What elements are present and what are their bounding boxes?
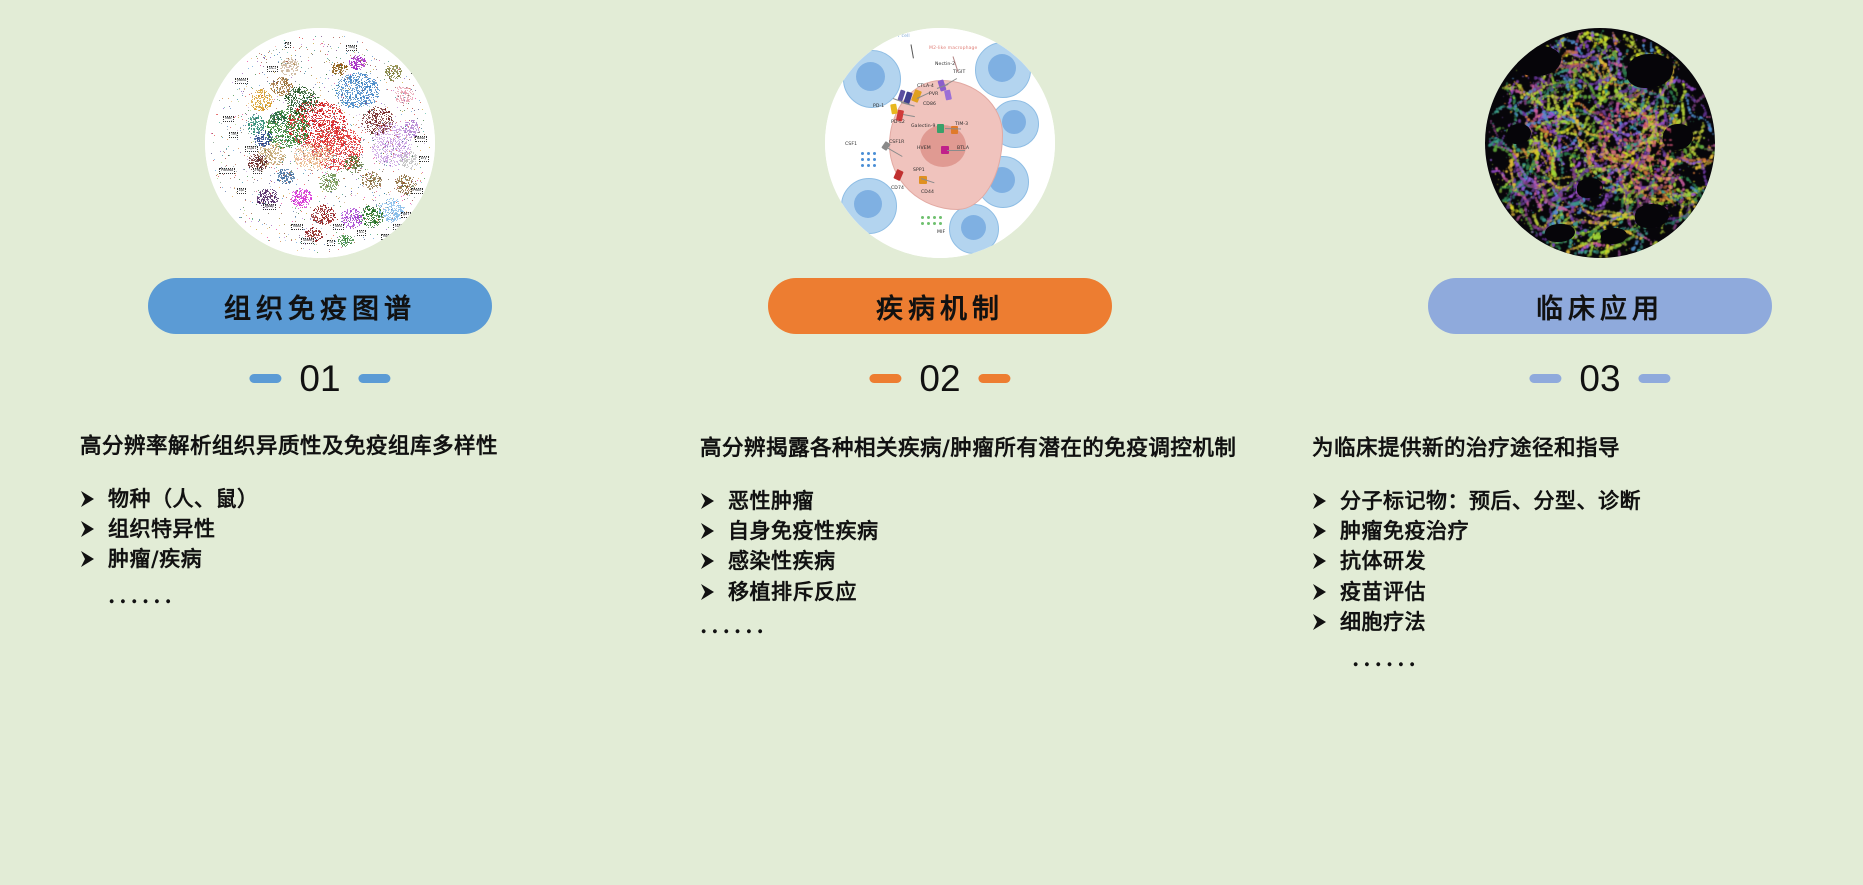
lead-text: 为临床提供新的治疗途径和指导 xyxy=(1312,434,1863,465)
diagram-annotation: M2-like macrophage xyxy=(929,46,977,51)
bullet-list-01: 物种（人、鼠） 组织特异性 肿瘤/疾病 xyxy=(80,484,610,575)
list-item: 分子标记物：预后、分型、诊断 xyxy=(1312,486,1863,516)
diagram-annotation: T cell xyxy=(897,34,910,39)
dash-right-icon xyxy=(1639,374,1671,383)
diagram-annotation: PD-L2 xyxy=(891,120,905,125)
list-item-label: 抗体研发 xyxy=(1340,546,1426,576)
column-03-body: 为临床提供新的治疗途径和指导 分子标记物：预后、分型、诊断 肿瘤免疫治疗 xyxy=(1312,412,1863,671)
list-item: 移植排斥反应 xyxy=(700,577,1245,607)
multiplex-tissue-image xyxy=(1485,28,1715,258)
infographic-board: CD4TTregBNKpDCMonoDC1MacTfhCD8TPlasmaFib… xyxy=(0,0,1863,885)
pill-label-text: 临床应用 xyxy=(1536,287,1664,326)
list-item-label: 自身免疫性疾病 xyxy=(728,516,879,546)
diagram-annotation: MIF xyxy=(937,230,945,235)
arrow-bullet-icon xyxy=(1312,489,1327,509)
media-circle-tissue xyxy=(1485,28,1715,258)
list-item-label: 恶性肿瘤 xyxy=(728,486,814,516)
ellipsis: ...... xyxy=(1352,646,1863,671)
column-02-body: 高分辨揭露各种相关疾病/肿瘤所有潜在的免疫调控机制 恶性肿瘤 自身免疫性疾病 xyxy=(700,412,1245,638)
arrow-bullet-icon xyxy=(80,547,95,567)
ellipsis: ...... xyxy=(108,583,610,608)
list-item: 肿瘤/疾病 xyxy=(80,544,610,574)
list-item-label: 疫苗评估 xyxy=(1340,577,1426,607)
dash-right-icon xyxy=(359,374,391,383)
diagram-annotation: PVR xyxy=(929,92,938,97)
cell-crosstalk-diagram: T cellM2-like macrophageCTLA-4PD-1PD-L2C… xyxy=(825,28,1055,258)
diagram-annotation: CSF1R xyxy=(889,140,904,145)
list-item: 细胞疗法 xyxy=(1312,607,1863,637)
diagram-annotation: SPP1 xyxy=(913,168,925,173)
list-item-label: 肿瘤免疫治疗 xyxy=(1340,516,1469,546)
diagram-annotation: CD74 xyxy=(891,186,904,191)
dash-left-icon xyxy=(1529,374,1561,383)
bullet-list-02: 恶性肿瘤 自身免疫性疾病 感染性疾病 xyxy=(700,486,1245,608)
pill-label-clinical-application[interactable]: 临床应用 xyxy=(1428,278,1772,334)
diagram-annotation: Nectin-2 xyxy=(935,62,955,67)
list-item: 疫苗评估 xyxy=(1312,577,1863,607)
media-circle-tsne: CD4TTregBNKpDCMonoDC1MacTfhCD8TPlasmaFib… xyxy=(205,28,435,258)
step-number: 01 xyxy=(299,360,340,397)
list-item-label: 移植排斥反应 xyxy=(728,577,857,607)
pill-label-text: 疾病机制 xyxy=(876,287,1004,326)
arrow-bullet-icon xyxy=(1312,549,1327,569)
column-03: 临床应用 03 为临床提供新的治疗途径和指导 分子标记物：预后、分型、诊断 xyxy=(1250,0,1850,885)
list-item: 抗体研发 xyxy=(1312,546,1863,576)
arrow-bullet-icon xyxy=(700,580,715,600)
tsne-scatter-plot: CD4TTregBNKpDCMonoDC1MacTfhCD8TPlasmaFib… xyxy=(205,28,435,258)
column-02: T cellM2-like macrophageCTLA-4PD-1PD-L2C… xyxy=(640,0,1240,885)
number-row-02: 02 xyxy=(869,360,1010,397)
diagram-annotation: CTLA-4 xyxy=(917,84,934,89)
diagram-annotation: BTLA xyxy=(957,146,969,151)
column-01: CD4TTregBNKpDCMonoDC1MacTfhCD8TPlasmaFib… xyxy=(20,0,620,885)
list-item-label: 分子标记物：预后、分型、诊断 xyxy=(1340,486,1641,516)
arrow-bullet-icon xyxy=(700,489,715,509)
list-item-label: 细胞疗法 xyxy=(1340,607,1426,637)
dash-left-icon xyxy=(249,374,281,383)
lead-text: 高分辨揭露各种相关疾病/肿瘤所有潜在的免疫调控机制 xyxy=(700,434,1245,465)
arrow-bullet-icon xyxy=(1312,580,1327,600)
list-item: 物种（人、鼠） xyxy=(80,484,610,514)
ellipsis: ...... xyxy=(700,613,1245,638)
pill-label-disease-mechanism[interactable]: 疾病机制 xyxy=(768,278,1112,334)
diagram-annotation: PD-1 xyxy=(873,104,884,109)
diagram-annotation: HVEM xyxy=(917,146,931,151)
column-01-body: 高分辨率解析组织异质性及免疫组库多样性 物种（人、鼠） 组织特异性 xyxy=(80,410,610,608)
step-number: 02 xyxy=(919,360,960,397)
diagram-annotation: TIGIT xyxy=(953,70,965,75)
arrow-bullet-icon xyxy=(700,519,715,539)
list-item-label: 组织特异性 xyxy=(108,514,216,544)
number-row-03: 03 xyxy=(1529,360,1670,397)
list-item: 感染性疾病 xyxy=(700,546,1245,576)
list-item: 自身免疫性疾病 xyxy=(700,516,1245,546)
dash-left-icon xyxy=(869,374,901,383)
number-row-01: 01 xyxy=(249,360,390,397)
list-item: 组织特异性 xyxy=(80,514,610,544)
bullet-list-03: 分子标记物：预后、分型、诊断 肿瘤免疫治疗 抗体研发 xyxy=(1312,486,1863,638)
step-number: 03 xyxy=(1579,360,1620,397)
arrow-bullet-icon xyxy=(1312,519,1327,539)
lead-text: 高分辨率解析组织异质性及免疫组库多样性 xyxy=(80,432,610,463)
arrow-bullet-icon xyxy=(700,549,715,569)
list-item-label: 感染性疾病 xyxy=(728,546,836,576)
arrow-bullet-icon xyxy=(80,487,95,507)
arrow-bullet-icon xyxy=(1312,610,1327,630)
dash-right-icon xyxy=(979,374,1011,383)
diagram-annotation: CSF1 xyxy=(845,142,857,147)
list-item-label: 物种（人、鼠） xyxy=(108,484,259,514)
pill-label-text: 组织免疫图谱 xyxy=(224,287,416,326)
diagram-annotation: CD44 xyxy=(921,190,934,195)
diagram-annotation: Galectin-9 xyxy=(911,124,936,129)
media-circle-cellmap: T cellM2-like macrophageCTLA-4PD-1PD-L2C… xyxy=(825,28,1055,258)
pill-label-tissue-immune-atlas[interactable]: 组织免疫图谱 xyxy=(148,278,492,334)
arrow-bullet-icon xyxy=(80,517,95,537)
list-item: 恶性肿瘤 xyxy=(700,486,1245,516)
diagram-annotation: TIM-3 xyxy=(955,122,968,127)
list-item: 肿瘤免疫治疗 xyxy=(1312,516,1863,546)
diagram-annotation: CD86 xyxy=(923,102,936,107)
list-item-label: 肿瘤/疾病 xyxy=(108,544,202,574)
